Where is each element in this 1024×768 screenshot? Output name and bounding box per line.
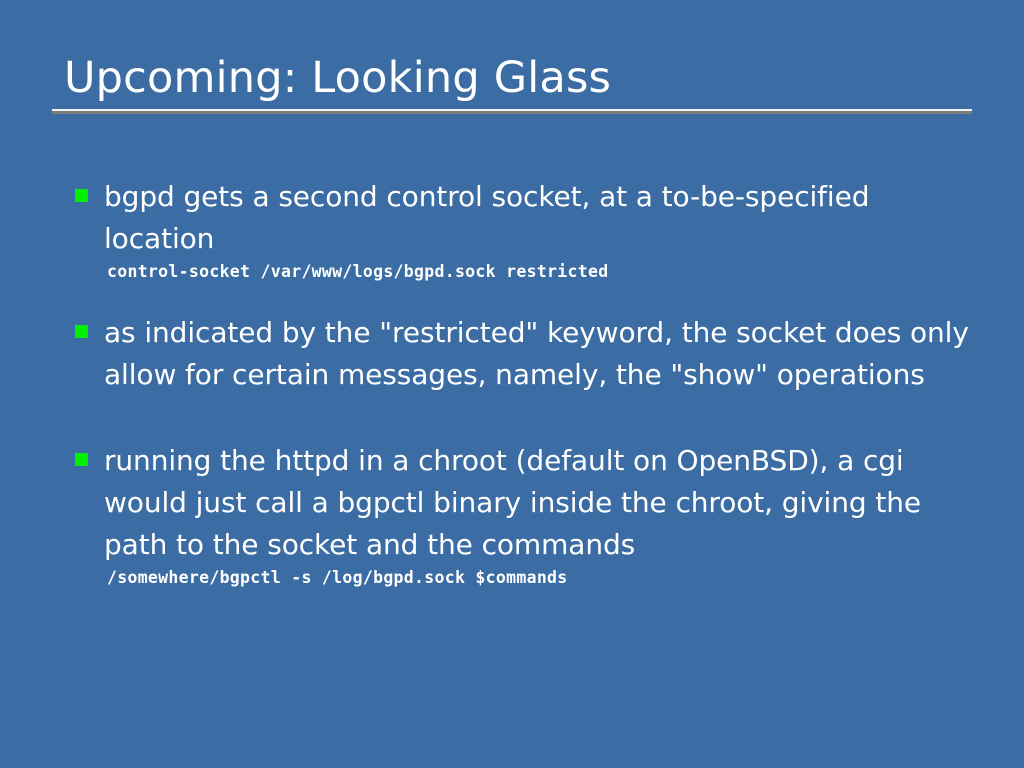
- title-divider: [52, 109, 972, 114]
- bullet-group-3: running the httpd in a chroot (default o…: [75, 440, 975, 590]
- spacer-1: [75, 284, 975, 312]
- square-bullet-icon: [75, 189, 88, 202]
- list-item: running the httpd in a chroot (default o…: [75, 440, 975, 566]
- bullet-text-2: as indicated by the "restricted" keyword…: [104, 316, 969, 391]
- list-item: bgpd gets a second control socket, at a …: [75, 176, 975, 260]
- bullet-group-2: as indicated by the "restricted" keyword…: [75, 312, 975, 396]
- bullet-text-3: running the httpd in a chroot (default o…: [104, 444, 921, 561]
- bullet-group-1: bgpd gets a second control socket, at a …: [75, 176, 975, 284]
- code-line-1: control-socket /var/www/logs/bgpd.sock r…: [75, 260, 975, 284]
- presentation-slide: Upcoming: Looking Glass bgpd gets a seco…: [0, 0, 1024, 768]
- slide-title-block: Upcoming: Looking Glass: [52, 52, 972, 114]
- square-bullet-icon: [75, 453, 88, 466]
- slide-body: bgpd gets a second control socket, at a …: [75, 176, 975, 590]
- spacer-2: [75, 396, 975, 440]
- square-bullet-icon: [75, 325, 88, 338]
- bullet-text-1: bgpd gets a second control socket, at a …: [104, 180, 869, 255]
- page-title: Upcoming: Looking Glass: [52, 52, 972, 104]
- list-item: as indicated by the "restricted" keyword…: [75, 312, 975, 396]
- code-line-3: /somewhere/bgpctl -s /log/bgpd.sock $com…: [75, 566, 975, 590]
